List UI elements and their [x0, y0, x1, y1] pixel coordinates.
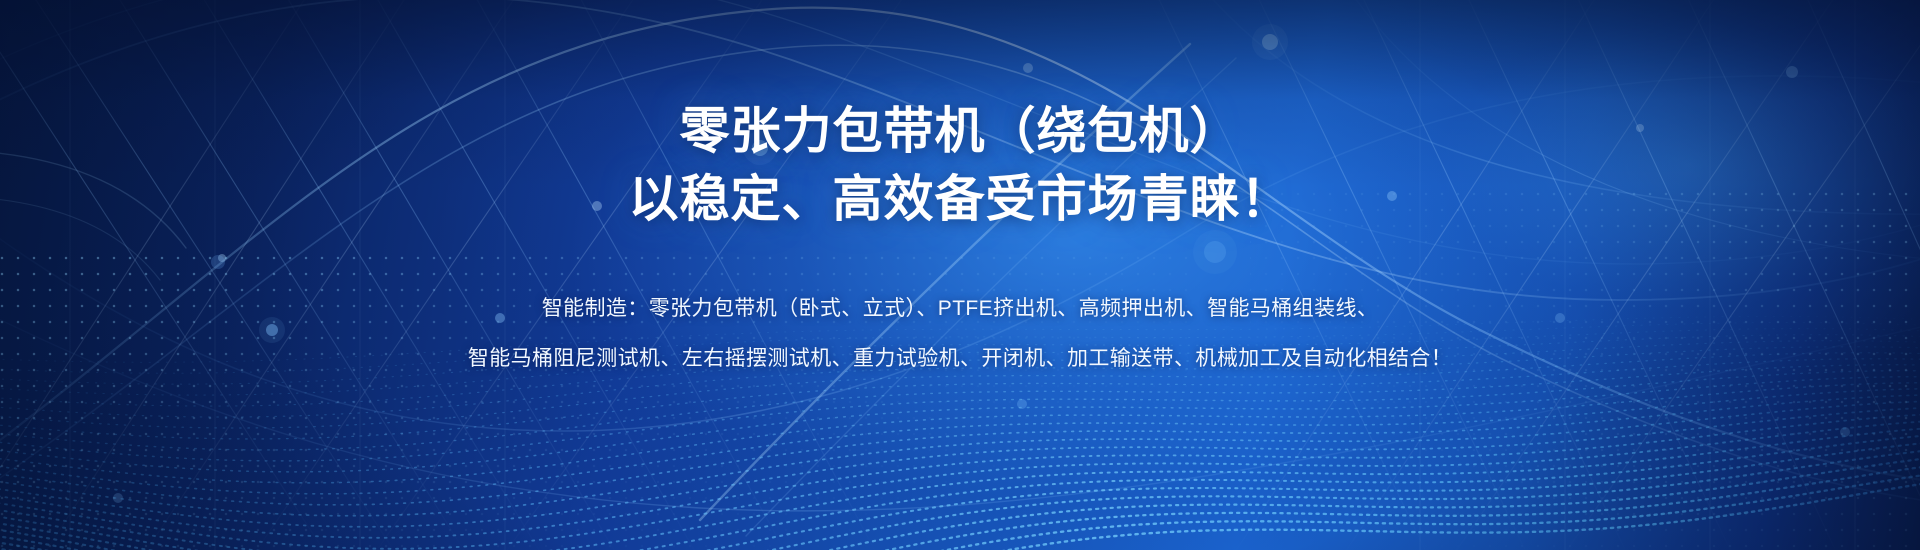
headline-line-1: 零张力包带机（绕包机） [0, 100, 1920, 162]
headline-line-2: 以稳定、高效备受市场青睐！ [0, 168, 1920, 230]
promo-banner: 零张力包带机（绕包机） 以稳定、高效备受市场青睐！ 智能制造：零张力包带机（卧式… [0, 0, 1920, 550]
subtitle-line-2: 智能马桶阻尼测试机、左右摇摆测试机、重力试验机、开闭机、加工输送带、机械加工及自… [0, 344, 1920, 374]
top-shade-overlay [0, 0, 1920, 550]
subtitle-line-1: 智能制造：零张力包带机（卧式、立式）、PTFE挤出机、高频押出机、智能马桶组装线… [0, 294, 1920, 324]
